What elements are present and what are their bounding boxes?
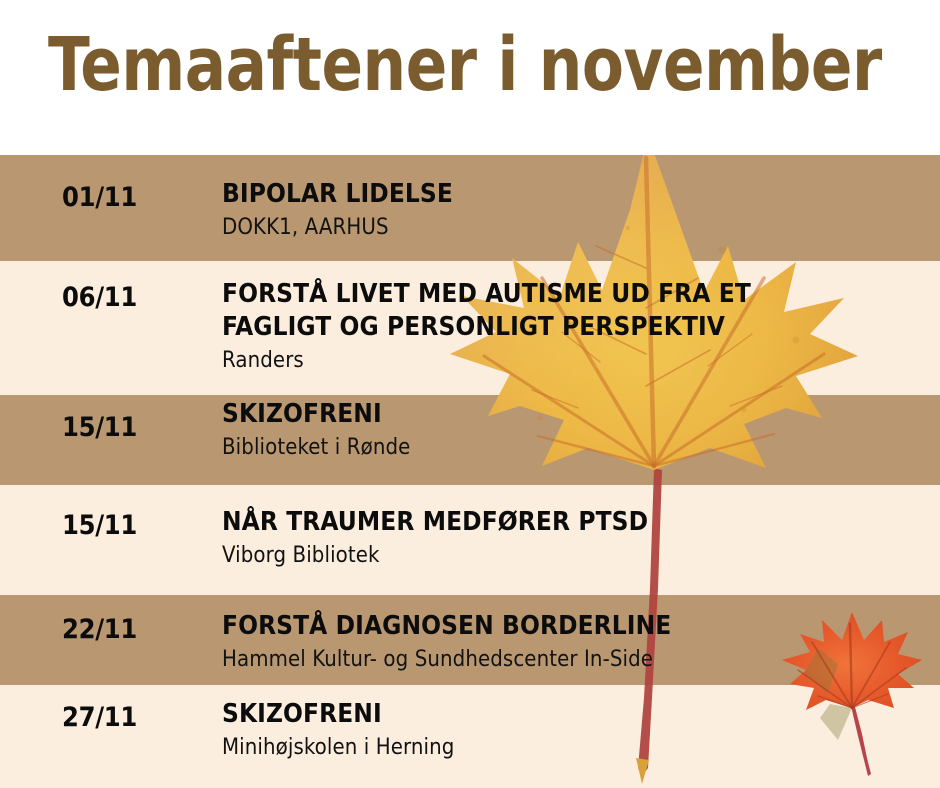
- event-body: NÅR TRAUMER MEDFØRER PTSDViborg Bibliote…: [222, 506, 930, 571]
- event-venue: Biblioteket i Rønde: [222, 434, 930, 463]
- event-venue: Viborg Bibliotek: [222, 542, 930, 571]
- event-body: SKIZOFRENIMinihøjskolen i Herning: [222, 698, 930, 763]
- poster: 01/11BIPOLAR LIDELSEDOKK1, AARHUS06/11FO…: [0, 0, 940, 788]
- event-venue: Minihøjskolen i Herning: [222, 734, 930, 763]
- event-title: NÅR TRAUMER MEDFØRER PTSD: [222, 506, 930, 539]
- event-venue: Randers: [222, 347, 930, 376]
- event-date: 01/11: [62, 182, 137, 213]
- event-title: SKIZOFRENI: [222, 698, 930, 731]
- event-venue: Hammel Kultur- og Sundhedscenter In-Side: [222, 646, 930, 675]
- event-date: 27/11: [62, 702, 137, 733]
- event-body: FORSTÅ DIAGNOSEN BORDERLINEHammel Kultur…: [222, 610, 930, 675]
- event-title: SKIZOFRENI: [222, 398, 930, 431]
- event-date: 15/11: [62, 510, 137, 541]
- event-date: 15/11: [62, 412, 137, 443]
- event-body: SKIZOFRENIBiblioteket i Rønde: [222, 398, 930, 463]
- event-body: FORSTÅ LIVET MED AUTISME UD FRA ET FAGLI…: [222, 278, 930, 376]
- event-title: FORSTÅ DIAGNOSEN BORDERLINE: [222, 610, 930, 643]
- event-body: BIPOLAR LIDELSEDOKK1, AARHUS: [222, 178, 930, 243]
- event-date: 06/11: [62, 282, 137, 313]
- event-date: 22/11: [62, 614, 137, 645]
- page-title: Temaaftener i november: [48, 26, 882, 106]
- event-venue: DOKK1, AARHUS: [222, 214, 930, 243]
- event-title: BIPOLAR LIDELSE: [222, 178, 930, 211]
- poster-header: Temaaftener i november: [0, 0, 940, 155]
- event-title: FORSTÅ LIVET MED AUTISME UD FRA ET FAGLI…: [222, 278, 930, 344]
